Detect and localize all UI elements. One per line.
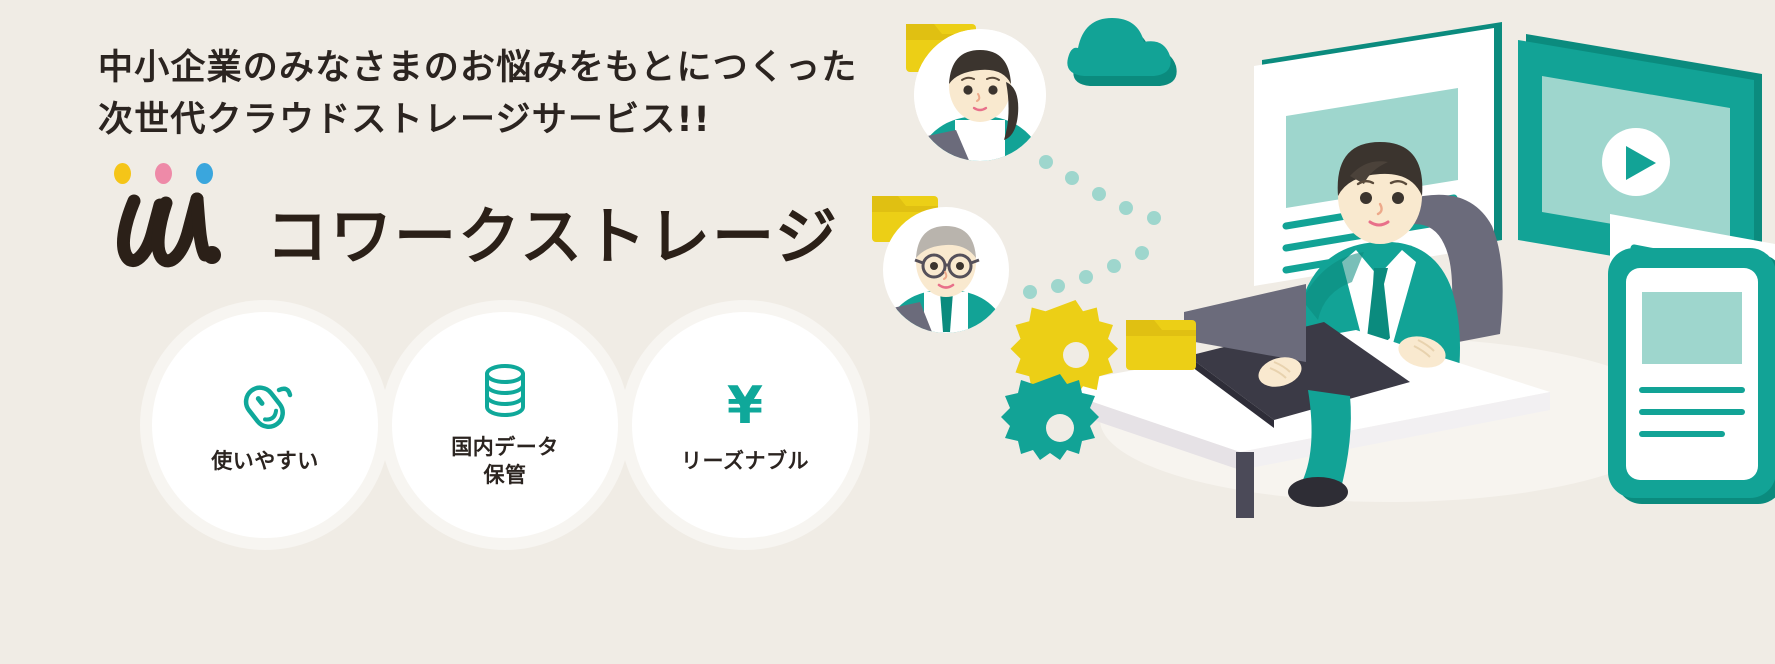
headline-line-2: 次世代クラウドストレージサービス!! bbox=[98, 94, 918, 146]
feature-item-domestic-data[interactable]: 国内データ 保管 bbox=[392, 312, 618, 538]
feature-label: リーズナブル bbox=[681, 447, 809, 475]
logo-dots bbox=[114, 163, 213, 184]
mouse-smile-icon bbox=[235, 375, 295, 437]
database-icon bbox=[476, 361, 534, 423]
feature-label-line: 国内データ bbox=[451, 433, 559, 461]
hero-banner: 中小企業のみなさまのお悩みをもとにつくった 次世代クラウドストレージサービス!!… bbox=[0, 0, 1775, 664]
logo-dot-yellow bbox=[114, 163, 131, 184]
feature-label-line: リーズナブル bbox=[681, 447, 809, 475]
cloud-storage-collaboration-illustration bbox=[850, 0, 1775, 560]
headline-block: 中小企業のみなさまのお悩みをもとにつくった 次世代クラウドストレージサービス!! bbox=[98, 42, 918, 146]
logo-dot-pink bbox=[155, 163, 172, 184]
feature-label: 使いやすい bbox=[211, 447, 319, 475]
yen-glyph: ¥ bbox=[727, 380, 763, 432]
avatar-senior-man bbox=[872, 196, 1009, 356]
feature-label-line: 使いやすい bbox=[211, 447, 319, 475]
folder-yellow bbox=[1126, 320, 1196, 370]
logo-dot-blue bbox=[196, 163, 213, 184]
avatar-woman bbox=[906, 24, 1046, 190]
feature-list: 使いやすい 国内データ 保管 ¥ bbox=[152, 312, 858, 538]
headline-line-1: 中小企業のみなさまのお悩みをもとにつくった bbox=[98, 42, 918, 94]
feature-label: 国内データ 保管 bbox=[451, 433, 559, 489]
logo-wordmark: コワークストレージ bbox=[266, 206, 839, 268]
yen-icon: ¥ bbox=[727, 375, 763, 437]
brand-logo[interactable]: コワークストレージ bbox=[100, 163, 839, 278]
feature-item-reasonable[interactable]: ¥ リーズナブル bbox=[632, 312, 858, 538]
feature-label-line: 保管 bbox=[451, 461, 559, 489]
feature-item-easy-to-use[interactable]: 使いやすい bbox=[152, 312, 378, 538]
tablet-panel bbox=[1608, 248, 1775, 504]
dotted-connection bbox=[1023, 155, 1161, 299]
logo-mark-icon bbox=[100, 163, 240, 278]
cloud-icon bbox=[1067, 18, 1176, 86]
